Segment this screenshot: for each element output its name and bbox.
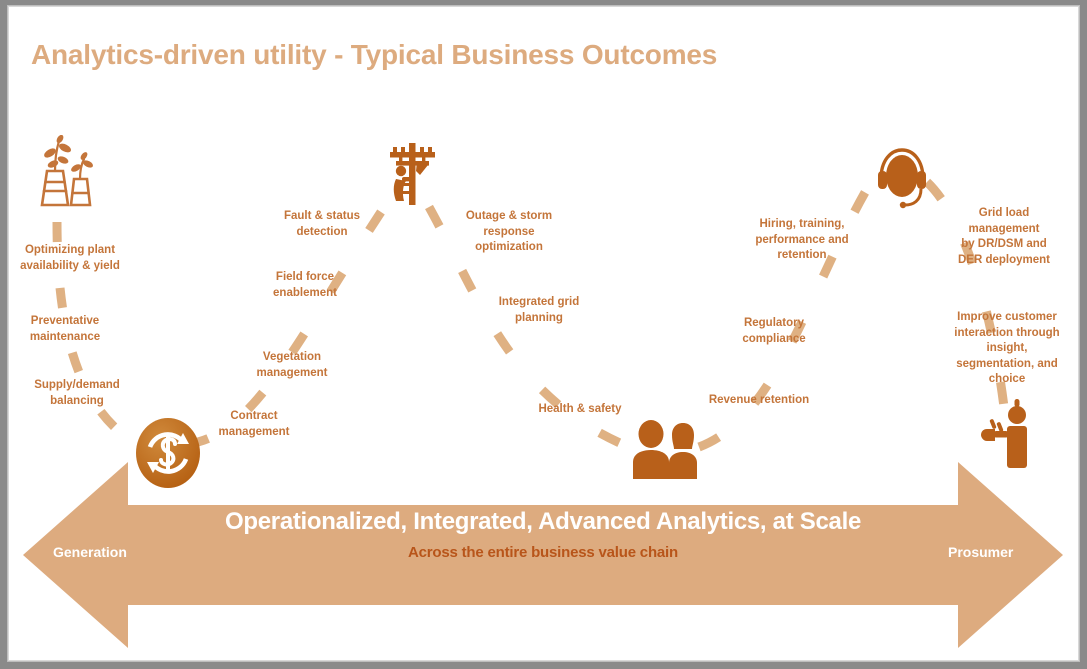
label-improve-customer-interaction: Improve customer interaction through ins… <box>939 310 1075 388</box>
utility-pole-lineman-icon <box>384 135 442 207</box>
label-integrated-grid-planning: Integrated grid planning <box>479 295 599 326</box>
value-chain-banner: Operationalized, Integrated, Advanced An… <box>23 450 1063 660</box>
label-contract-management: Contract management <box>199 409 309 440</box>
label-supply-demand-balancing: Supply/demand balancing <box>19 378 135 409</box>
label-field-force-enablement: Field force enablement <box>251 270 359 301</box>
label-revenue-retention: Revenue retention <box>691 393 827 409</box>
label-preventative-maintenance: Preventative maintenance <box>9 314 121 345</box>
label-grid-load-management: Grid load management by DR/DSM and DER d… <box>939 206 1069 268</box>
slide-canvas: Analytics-driven utility - Typical Busin… <box>8 6 1079 661</box>
banner-sub-text: Across the entire business value chain <box>23 544 1063 561</box>
page-title: Analytics-driven utility - Typical Busin… <box>31 39 717 71</box>
banner-left-label: Generation <box>53 544 127 560</box>
label-hiring-training: Hiring, training, performance and retent… <box>737 217 867 264</box>
label-vegetation-management: Vegetation management <box>237 350 347 381</box>
banner-right-label: Prosumer <box>948 544 1013 560</box>
label-fault-status-detection: Fault & status detection <box>267 209 377 240</box>
label-outage-storm-response: Outage & storm response optimization <box>449 209 569 256</box>
banner-main-text: Operationalized, Integrated, Advanced An… <box>23 508 1063 536</box>
label-health-safety: Health & safety <box>517 402 643 418</box>
headset-icon <box>871 145 933 211</box>
power-plant-icon <box>29 135 99 207</box>
label-optimizing-plant: Optimizing plant availability & yield <box>9 243 131 274</box>
label-regulatory-compliance: Regulatory compliance <box>714 316 834 347</box>
